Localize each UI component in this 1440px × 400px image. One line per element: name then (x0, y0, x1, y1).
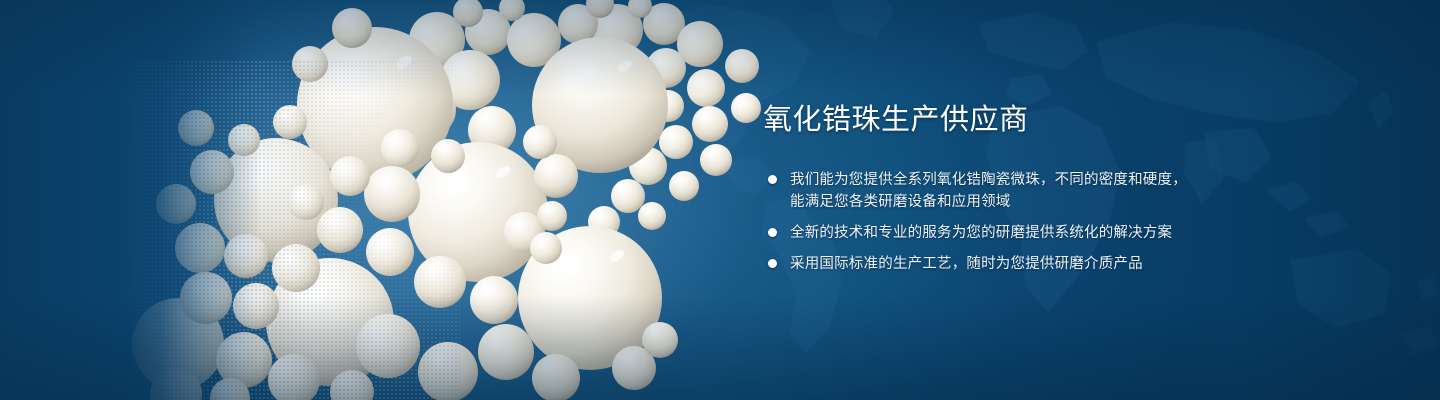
bullet-dot-icon (768, 175, 777, 184)
bullet-1-line-2: 能满足您各类研磨设备和应用领域 (790, 191, 1383, 213)
bullet-3-line-1: 采用国际标准的生产工艺，随时为您提供研磨介质产品 (790, 253, 1383, 275)
bullet-dot-icon (768, 259, 777, 268)
bullet-1-line-1: 我们能为您提供全系列氧化锆陶瓷微珠，不同的密度和硬度， (790, 169, 1383, 191)
bullet-item-3: 采用国际标准的生产工艺，随时为您提供研磨介质产品 (763, 253, 1383, 275)
bullet-2-line-1: 全新的技术和专业的服务为您的研磨提供系统化的解决方案 (790, 222, 1383, 244)
banner-text-block: 氧化锆珠生产供应商 我们能为您提供全系列氧化锆陶瓷微珠，不同的密度和硬度， 能满… (763, 106, 1383, 275)
banner-headline: 氧化锆珠生产供应商 (763, 106, 1383, 135)
bullet-item-1: 我们能为您提供全系列氧化锆陶瓷微珠，不同的密度和硬度， 能满足您各类研磨设备和应… (763, 169, 1383, 213)
hero-banner: 氧化锆珠生产供应商 我们能为您提供全系列氧化锆陶瓷微珠，不同的密度和硬度， 能满… (0, 0, 1440, 400)
bullet-dot-icon (768, 228, 777, 237)
bullet-item-2: 全新的技术和专业的服务为您的研磨提供系统化的解决方案 (763, 222, 1383, 244)
banner-bullet-list: 我们能为您提供全系列氧化锆陶瓷微珠，不同的密度和硬度， 能满足您各类研磨设备和应… (763, 169, 1383, 275)
